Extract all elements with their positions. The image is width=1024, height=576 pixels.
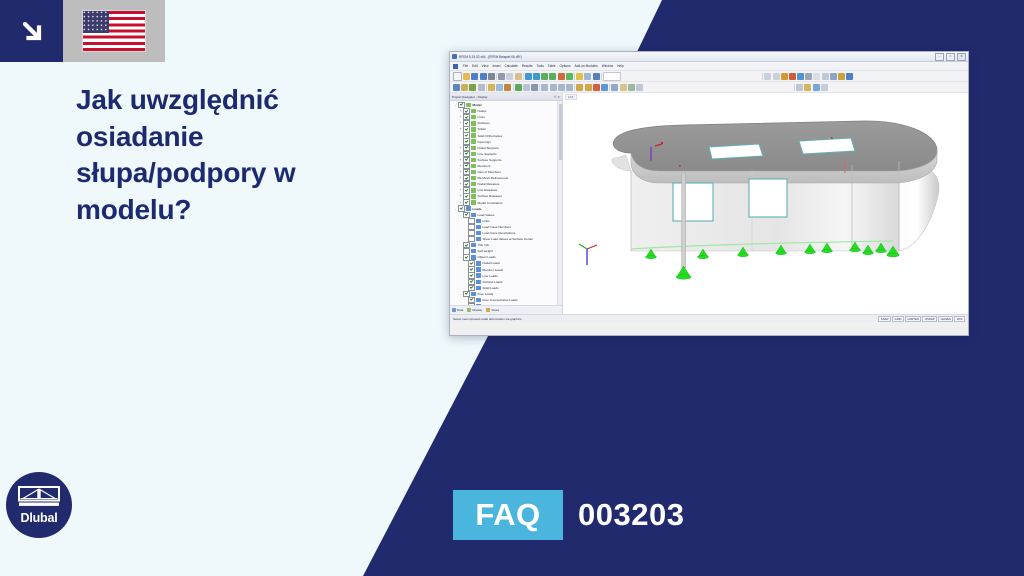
toolbar-icon-open[interactable] [463, 73, 470, 80]
tree-item-label: Surfaces [478, 121, 490, 125]
language-flag-block [63, 0, 165, 62]
tree-item-icon [476, 261, 481, 265]
model-viewport[interactable]: LC1 [563, 93, 968, 314]
toolbar-icon-printout[interactable] [822, 73, 829, 80]
toolbar-icon-dim[interactable] [585, 84, 592, 91]
menu-item-calculate[interactable]: Calculate [504, 64, 517, 68]
tree-scrollbar[interactable] [557, 101, 562, 305]
status-osnap[interactable]: OSNAP [922, 316, 937, 322]
tree-item-label: Lines [478, 115, 485, 119]
close-button[interactable]: ✕ [957, 53, 966, 61]
menu-bar[interactable]: File Edit View Insert Calculate Results … [450, 62, 968, 71]
toolbar-icon-display3[interactable] [813, 84, 820, 91]
tree-item-icon [471, 139, 476, 143]
toolbar-icon-view-yz[interactable] [566, 84, 573, 91]
tree-item-icon [471, 127, 476, 131]
toolbar-icon-saveall[interactable] [480, 73, 487, 80]
toolbar-icon-select-pointer[interactable] [453, 84, 460, 91]
tree-item-icon [471, 170, 476, 174]
toolbar-icon-table[interactable] [813, 73, 820, 80]
tree-item-icon [471, 200, 476, 204]
menu-item-help[interactable]: Help [617, 64, 624, 68]
toolbar-icon-release[interactable] [523, 84, 530, 91]
navigator-pin-icon[interactable]: ⇱ ✕ [554, 95, 560, 99]
menu-item-file[interactable]: File [463, 64, 468, 68]
navigator-tree[interactable]: -Model+Nodes+Lines+Surfaces+SolidsSolid … [450, 101, 562, 305]
navigator-tab-label: Data [457, 308, 463, 312]
toolbar-icon-settings[interactable] [838, 73, 845, 80]
menu-item-table[interactable]: Table [548, 64, 556, 68]
toolbar-icon-zoom-all[interactable] [558, 73, 565, 80]
tree-item-icon [471, 249, 476, 253]
menu-item-insert[interactable]: Insert [493, 64, 501, 68]
tree-item-label: FE Mesh Refinements [478, 176, 509, 180]
tree-item-icon [471, 292, 476, 296]
toolbar-primary[interactable] [450, 71, 968, 82]
toolbar-icon-paste[interactable] [515, 73, 522, 80]
tree-item-label: Loads [473, 207, 482, 211]
tree-item-label: Sets of Members [478, 170, 501, 174]
flag-canton [83, 11, 109, 33]
toolbar-icon-annotate[interactable] [593, 84, 600, 91]
tree-item-icon [471, 188, 476, 192]
faq-number: 003203 [578, 490, 684, 540]
tree-item-icon [471, 152, 476, 156]
tree-item-label: Surface Loads [483, 280, 503, 284]
tree-item-label: Line Loads [483, 274, 498, 278]
toolbar-separator [762, 73, 763, 80]
tree-item-label: Nodal Loads [483, 261, 500, 265]
toolbar-icon-next[interactable] [773, 73, 780, 80]
tree-item-icon [476, 304, 481, 305]
flag-stars [83, 11, 109, 33]
status-snap[interactable]: SNAP [878, 316, 891, 322]
toolbar-icon-zoom-out[interactable] [549, 73, 556, 80]
tree-item-label: Solid Loads [483, 286, 499, 290]
tree-item-label: Surface Supports [478, 158, 502, 162]
toolbar-separator [539, 84, 540, 91]
tree-item-icon [476, 286, 481, 290]
toolbar-icon-node[interactable] [461, 84, 468, 91]
status-glines[interactable]: GLINES [938, 316, 953, 322]
menu-app-icon [453, 64, 458, 69]
toolbar-icon-measure[interactable] [576, 84, 583, 91]
tree-item-label: Load Case Numbers [483, 225, 511, 229]
tree-item-icon [476, 267, 481, 271]
toolbar-icon-mesh[interactable] [531, 84, 538, 91]
window-title: RFEM 5.19.02 x64 - [RFEM Beispiel 06.rf5… [459, 55, 522, 59]
tree-item-label: Title Info [478, 243, 490, 247]
tree-item-icon [471, 164, 476, 168]
tree-item-icon [476, 273, 481, 277]
navigator-tab-label: Views [491, 308, 499, 312]
tree-item-icon [476, 280, 481, 284]
toolbar-icon-display1[interactable] [796, 84, 803, 91]
maximize-button[interactable]: □ [946, 53, 955, 61]
toolbar-separator [794, 84, 795, 91]
axes-triad [579, 244, 597, 265]
toolbar-separator [496, 73, 497, 80]
tree-item-icon [476, 298, 481, 302]
tree-item-icon [471, 146, 476, 150]
tree-item-icon [471, 158, 476, 162]
toolbar-separator [513, 84, 514, 91]
status-indicators[interactable]: SNAP GRID CARTES OSNAP GLINES DXF [878, 316, 965, 322]
toolbar-icon-refresh[interactable] [566, 73, 573, 80]
tree-item-label: Members [478, 164, 491, 168]
tree-item-label: Nodes [478, 109, 487, 113]
toolbar-separator [609, 84, 610, 91]
tree-item-label: Model Constraints [478, 201, 503, 205]
tree-item-icon [471, 213, 476, 217]
tree-item-icon [471, 109, 476, 113]
dlubal-logo: Dlubal [6, 472, 72, 538]
toolbar-separator [574, 73, 575, 80]
status-dxf[interactable]: DXF [954, 316, 965, 322]
toolbar-icon-render[interactable] [576, 73, 583, 80]
toolbar-icon-view-xz[interactable] [558, 84, 565, 91]
display-tab-icon [467, 308, 471, 312]
toolbar-icon-display4[interactable] [821, 84, 828, 91]
navigator-title: Project Navigator - Display [452, 95, 488, 99]
tree-item-label: Openings [478, 140, 491, 144]
tree-item-icon [476, 231, 481, 235]
menu-item-window[interactable]: Window [602, 64, 613, 68]
toolbar-icon-save[interactable] [471, 73, 478, 80]
page-title: Jak uwzględnić osiadanie słupa/podpory w… [76, 82, 376, 229]
toolbar-icon-new[interactable] [453, 72, 462, 81]
toolbar-icon-wire[interactable] [584, 73, 591, 80]
tree-item-label: Nodal Supports [478, 146, 499, 150]
toolbar-icon-cut[interactable] [498, 73, 505, 80]
toolbar-icon-view-xy[interactable] [550, 84, 557, 91]
views-tab-icon [486, 308, 490, 312]
toolbar-icon-iso[interactable] [797, 73, 804, 80]
toolbar-icon-help[interactable] [846, 73, 853, 80]
tree-item-label: Load Case Descriptions [483, 231, 516, 235]
tree-item-icon [471, 176, 476, 180]
toolbar-icon-redo[interactable] [533, 73, 540, 80]
tree-item-icon [476, 225, 481, 229]
tree-item[interactable]: Free Line Loads [451, 303, 562, 305]
status-bar: Select new imposed nodal deformation via… [450, 314, 968, 322]
toolbar-secondary[interactable] [450, 82, 968, 93]
app-icon [452, 54, 457, 59]
toolbar-icon-member[interactable] [504, 84, 511, 91]
workspace: Project Navigator - Display ⇱ ✕ -Model+N… [450, 93, 968, 314]
toolbar-icon-line[interactable] [469, 84, 476, 91]
tree-item-icon [471, 255, 476, 259]
toolbar-icon-group1[interactable] [611, 84, 618, 91]
menu-item-addon-modules[interactable]: Add-on Modules [575, 64, 598, 68]
navigator-tab-views[interactable]: Views [486, 308, 499, 312]
status-grid[interactable]: GRID [892, 316, 904, 322]
tree-item-label: Solid Orthotropies [478, 134, 503, 138]
tree-scroll-thumb[interactable] [559, 104, 562, 160]
toolbar-icon-undo[interactable] [525, 73, 532, 80]
tree-item-icon [471, 243, 476, 247]
tree-item-icon [471, 121, 476, 125]
tree-item-icon [471, 182, 476, 186]
navigator-tab-display[interactable]: Display [467, 308, 482, 312]
rfem-application-window: RFEM 5.19.02 x64 - [RFEM Beispiel 06.rf5… [449, 51, 969, 336]
toolbar-icon-group4[interactable] [636, 84, 643, 91]
tree-item-icon [476, 219, 481, 223]
toolbar-icon-solid[interactable] [496, 84, 503, 91]
menu-item-options[interactable]: Options [560, 64, 571, 68]
tree-item-label: Free Concentrated Loads [483, 298, 518, 302]
tree-item-icon [471, 194, 476, 198]
toolbar-icon-layers[interactable] [601, 84, 608, 91]
tree-item-label: Free Loads [478, 292, 494, 296]
tree-item-label: Object Loads [478, 255, 496, 259]
status-cartes[interactable]: CARTES [905, 316, 921, 322]
status-message: Select new imposed nodal deformation via… [453, 317, 522, 321]
us-flag-icon [83, 11, 145, 51]
minimize-button[interactable]: – [935, 53, 944, 61]
load-case-select[interactable] [603, 72, 621, 81]
toolbar-icon-zoom-in[interactable] [541, 73, 548, 80]
toolbar-icon-deform[interactable] [789, 73, 796, 80]
tree-item-icon [466, 206, 471, 210]
dlubal-truss-logo-icon [18, 486, 60, 510]
tree-item-label: Surface Releases [478, 194, 502, 198]
toolbar-icon-view-iso[interactable] [541, 84, 548, 91]
tree-item-label: Load Values [478, 213, 495, 217]
tree-item-label: Solids [478, 127, 486, 131]
navigator-tab-label: Display [472, 308, 482, 312]
toolbar-icon-results[interactable] [781, 73, 788, 80]
window-titlebar: RFEM 5.19.02 x64 - [RFEM Beispiel 06.rf5… [450, 52, 968, 62]
tree-item-label: Free Line Loads [483, 304, 505, 305]
menu-item-edit[interactable]: Edit [472, 64, 478, 68]
toolbar-icon-calc[interactable] [593, 73, 600, 80]
navigator-tabs[interactable]: Data Display Views [450, 305, 562, 314]
toolbar-separator [601, 73, 602, 80]
toolbar-icon-print[interactable] [488, 73, 495, 80]
project-navigator-panel: Project Navigator - Display ⇱ ✕ -Model+N… [450, 93, 563, 314]
tree-item-label: Line Supports [478, 152, 497, 156]
faq-badge-label: FAQ [475, 497, 540, 533]
tree-item-label: Show Load Values at Surface Center [483, 237, 534, 241]
toolbar-separator [486, 84, 487, 91]
dlubal-logo-text: Dlubal [21, 511, 58, 525]
tree-item-icon [471, 133, 476, 137]
data-tab-icon [452, 308, 456, 312]
slide-canvas: Jak uwzględnić osiadanie słupa/podpory w… [0, 0, 1024, 576]
toolbar-icon-copy[interactable] [506, 73, 513, 80]
tree-item-label: Self-weight [478, 249, 493, 253]
window-buttons[interactable]: – □ ✕ [935, 53, 966, 61]
tree-item-checkbox[interactable] [468, 303, 475, 305]
toolbar-separator [574, 84, 575, 91]
toolbar-icon-sections[interactable] [805, 73, 812, 80]
tree-item-label: Line Releases [478, 188, 498, 192]
tree-item-label: Units [483, 219, 490, 223]
tree-item-icon [476, 237, 481, 241]
toolbar-icon-support[interactable] [515, 84, 522, 91]
toolbar-icon-group3[interactable] [628, 84, 635, 91]
navigator-header: Project Navigator - Display ⇱ ✕ [450, 93, 562, 101]
menu-item-view[interactable]: View [482, 64, 489, 68]
tree-item-label: Model [473, 103, 482, 107]
toolbar-icon-grid[interactable] [830, 73, 837, 80]
model-3d-graphic [563, 99, 968, 313]
tree-item-label: Nodal Releases [478, 182, 500, 186]
faq-badge: FAQ [453, 490, 563, 540]
tree-item-icon [466, 103, 471, 107]
tree-item-icon [471, 115, 476, 119]
arrow-block [0, 0, 63, 62]
toolbar-icon-group2[interactable] [620, 84, 627, 91]
navigator-tab-data[interactable]: Data [452, 308, 463, 312]
menu-item-tools[interactable]: Tools [536, 64, 543, 68]
toolbar-icon-surface[interactable] [488, 84, 495, 91]
toolbar-separator [523, 73, 524, 80]
toolbar-icon-arc[interactable] [478, 84, 485, 91]
arrow-down-right-icon [18, 17, 46, 45]
toolbar-icon-prev[interactable] [764, 73, 771, 80]
menu-item-results[interactable]: Results [522, 64, 533, 68]
toolbar-icon-display2[interactable] [804, 84, 811, 91]
tree-item-label: Member Loads [483, 268, 504, 272]
